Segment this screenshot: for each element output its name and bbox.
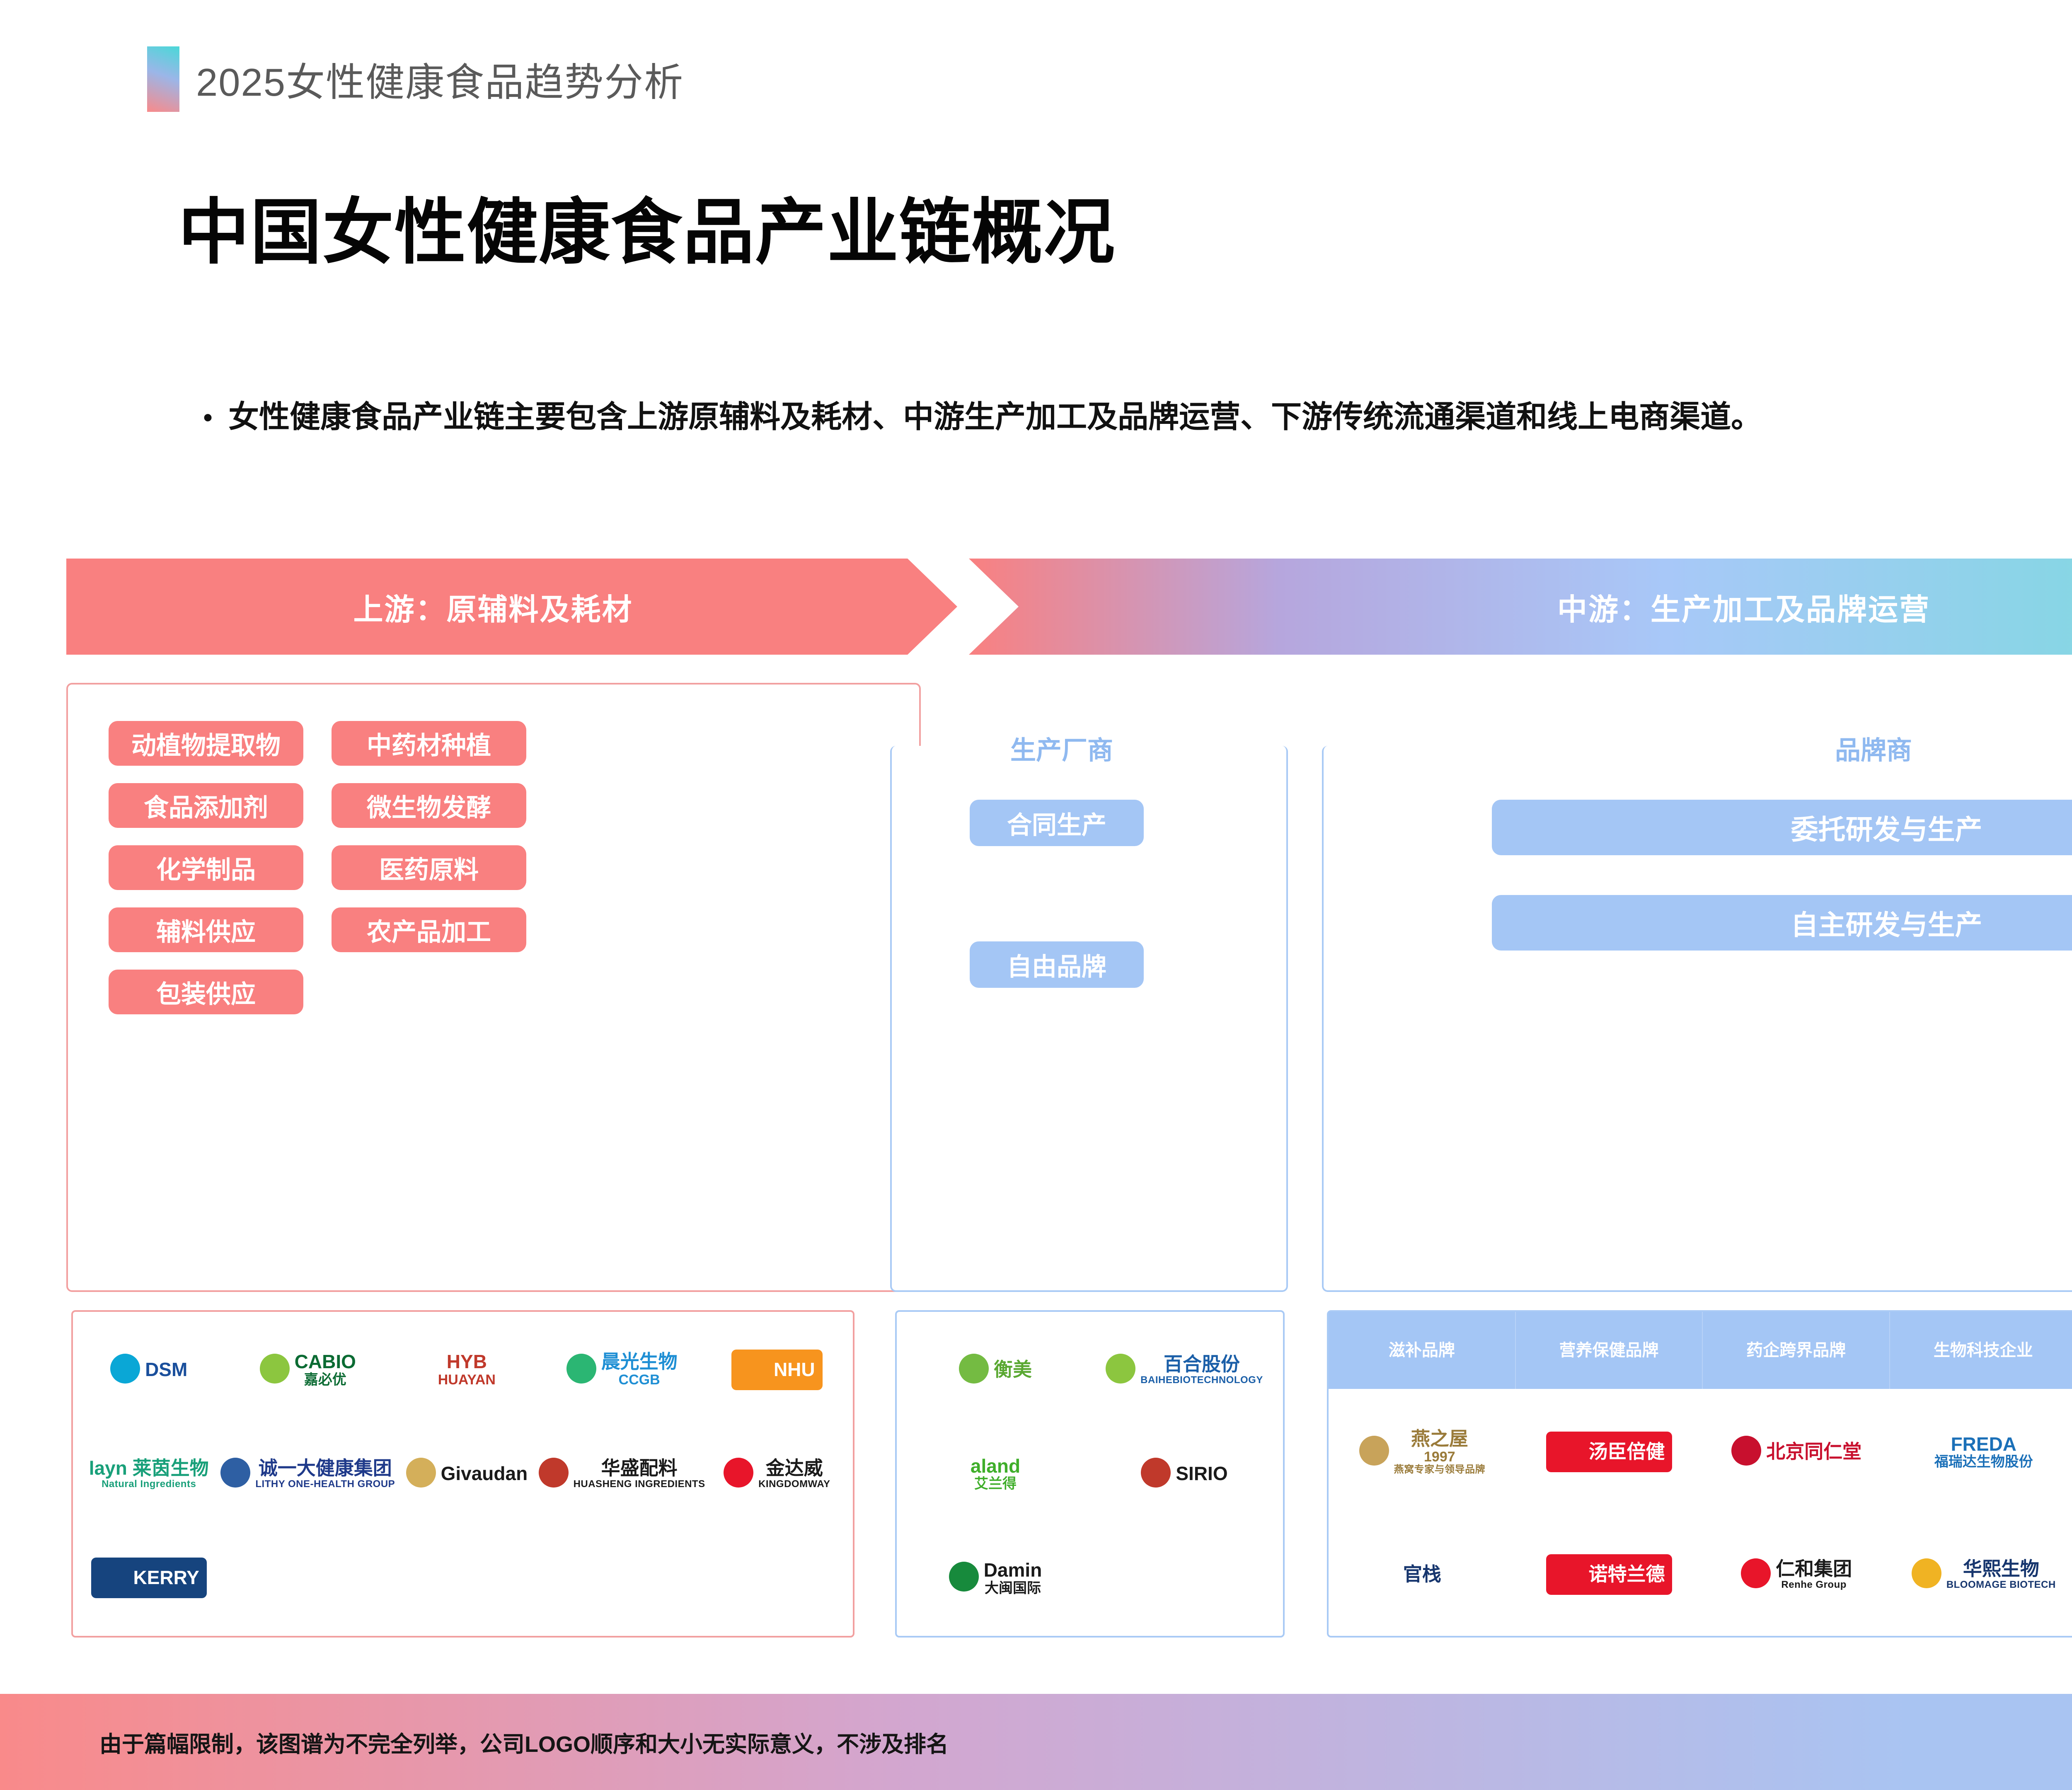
logo-text: HUASHENG INGREDIENTS: [574, 1479, 705, 1490]
brand-logo: 官栈: [1403, 1564, 1441, 1585]
logo-mark-icon: [1554, 1558, 1583, 1588]
logo-text: 福瑞达生物股份: [1934, 1454, 2033, 1470]
brand-logo: 汤臣倍健: [1546, 1432, 1672, 1472]
logo-mark-icon: [1359, 1436, 1389, 1466]
brand-category[interactable]: 滋补品牌: [1329, 1312, 1516, 1389]
upstream-logo: HYBHUAYAN: [438, 1352, 496, 1387]
brand-category[interactable]: 生物科技企业: [1890, 1312, 2072, 1389]
logo-text: 百合股份: [1164, 1354, 1240, 1375]
logo-text: 晨光生物: [601, 1352, 678, 1372]
logo-mark-icon: [1912, 1558, 1941, 1588]
stage-upstream[interactable]: 上游：原辅料及耗材: [66, 559, 957, 655]
page-title: 中国女性健康食品产业链概况: [178, 174, 1116, 278]
logo-mark-icon: [1141, 1458, 1171, 1488]
stage-midstream[interactable]: 中游：生产加工及品牌运营: [969, 559, 2072, 655]
upstream-logo-panel: DSMCABIO嘉必优HYBHUAYAN晨光生物CCGBNHUlayn 莱茵生物…: [71, 1310, 854, 1638]
logo-text: 诺特兰德: [1588, 1564, 1665, 1585]
brand-tag-list: 委托研发与生产 自主研发与生产: [1492, 800, 2072, 951]
logo-mark-icon: [110, 1354, 140, 1384]
logo-text: CCGB: [619, 1372, 660, 1388]
accent-bar-icon: [147, 46, 179, 112]
logo-text: CABIO: [295, 1352, 356, 1372]
logo-text: Natural Ingredients: [102, 1479, 196, 1490]
logo-text: 大闽国际: [985, 1581, 1041, 1596]
upstream-logo: 诚一大健康集团LITHY ONE-HEALTH GROUP: [220, 1458, 395, 1490]
logo-text: KINGDOMWAY: [758, 1479, 830, 1490]
footer-bar: 由于篇幅限制，该图谱为不完全列举，公司LOGO顺序和大小无实际意义，不涉及排名: [0, 1694, 2072, 1790]
upstream-tag[interactable]: 包装供应: [109, 970, 303, 1014]
brand-logo: FREDA福瑞达生物股份: [1934, 1434, 2033, 1470]
brand-logo: 华熙生物BLOOMAGE BIOTECH: [1912, 1558, 2056, 1591]
logo-text: HYB: [447, 1352, 487, 1372]
upstream-logo: 晨光生物CCGB: [566, 1352, 678, 1387]
logo-mark-icon: [1741, 1558, 1771, 1588]
brand-category-strip: 滋补品牌 营养保健品牌 药企跨界品牌 生物科技企业 日化美妆品牌 食品品牌: [1329, 1312, 2072, 1389]
logo-mark-icon: [1554, 1436, 1583, 1466]
logo-text: layn 莱茵生物: [89, 1458, 209, 1479]
logo-text: 嘉必优: [304, 1372, 346, 1388]
logo-text: DSM: [145, 1359, 187, 1380]
logo-text: Renhe Group: [1781, 1580, 1847, 1590]
brand-category[interactable]: 营养保健品牌: [1516, 1312, 1703, 1389]
upstream-tag[interactable]: 农产品加工: [332, 907, 526, 952]
logo-mark-icon: [1106, 1354, 1135, 1384]
logo-mark-icon: [949, 1562, 979, 1592]
logo-mark-icon: [260, 1354, 290, 1384]
upstream-tag[interactable]: 辅料供应: [109, 907, 303, 952]
manufacturer-logo: 百合股份BAIHEBIOTECHNOLOGY: [1106, 1354, 1263, 1386]
logo-mark-icon: [724, 1458, 753, 1488]
logo-mark-icon: [220, 1458, 250, 1488]
manufacturer-logo: SIRIO: [1141, 1458, 1227, 1490]
lead-paragraph: • 女性健康食品产业链主要包含上游原辅料及耗材、中游生产加工及品牌运营、下游传统…: [203, 398, 1762, 436]
bullet-icon: •: [203, 398, 213, 431]
logo-mark-icon: [99, 1562, 128, 1592]
logo-text: SIRIO: [1176, 1463, 1227, 1484]
upstream-logo: CABIO嘉必优: [260, 1352, 356, 1387]
logo-text: HUAYAN: [438, 1372, 496, 1388]
logo-text: 燕之屋: [1411, 1429, 1468, 1449]
upstream-logo: 金达威KINGDOMWAY: [724, 1458, 830, 1490]
logo-text: 金达威: [766, 1458, 823, 1479]
logo-text: aland: [971, 1456, 1020, 1477]
brand-logo: 燕之屋1997燕窝专家与领导品牌: [1359, 1429, 1486, 1475]
logo-text: 汤臣倍健: [1588, 1442, 1665, 1462]
logo-mark-icon: [739, 1354, 769, 1384]
manufacturer-logo: aland艾兰得: [971, 1456, 1020, 1492]
logo-text: 衡美: [994, 1359, 1032, 1380]
logo-text: 诚一大健康集团: [259, 1458, 392, 1479]
logo-text: KERRY: [133, 1567, 199, 1588]
logo-text: 燕窝专家与领导品牌: [1394, 1464, 1486, 1475]
logo-text: 北京同仁堂: [1766, 1442, 1861, 1462]
manufacturer-caption: 生产厂商: [999, 729, 1125, 767]
logo-mark-icon: [959, 1354, 989, 1384]
upstream-tag[interactable]: 化学制品: [109, 845, 303, 890]
upstream-logo: DSM: [110, 1354, 187, 1386]
kicker-label: 2025女性健康食品趋势分析: [196, 51, 684, 107]
upstream-logo: KERRY: [91, 1558, 207, 1598]
logo-text: 华熙生物: [1963, 1559, 2039, 1580]
stage-band: 上游：原辅料及耗材 中游：生产加工及品牌运营 下游：销售渠道: [66, 559, 2072, 655]
logo-text: 仁和集团: [1776, 1559, 1852, 1580]
brand-logo: 北京同仁堂: [1731, 1436, 1861, 1468]
upstream-tag[interactable]: 微生物发酵: [332, 783, 526, 828]
upstream-tag[interactable]: 中药材种植: [332, 721, 526, 766]
manufacturer-tag[interactable]: 自由品牌: [970, 941, 1144, 988]
logo-text: NHU: [774, 1359, 815, 1380]
logo-mark-icon: [539, 1458, 569, 1488]
logo-mark-icon: [1731, 1436, 1761, 1466]
kicker-row: 2025女性健康食品趋势分析: [147, 46, 684, 112]
brand-category[interactable]: 药企跨界品牌: [1703, 1312, 1890, 1389]
upstream-logo-grid: DSMCABIO嘉必优HYBHUAYAN晨光生物CCGBNHUlayn 莱茵生物…: [73, 1312, 853, 1636]
brand-logo: 仁和集团Renhe Group: [1741, 1558, 1852, 1591]
logo-text: 华盛配料: [601, 1458, 678, 1479]
logo-text: LITHY ONE-HEALTH GROUP: [255, 1479, 395, 1490]
logo-text: 官栈: [1403, 1564, 1441, 1585]
upstream-logo: layn 莱茵生物Natural Ingredients: [89, 1458, 209, 1490]
logo-text: Damin: [984, 1560, 1042, 1581]
upstream-logo: 华盛配料HUASHENG INGREDIENTS: [539, 1458, 705, 1490]
logo-mark-icon: [566, 1354, 596, 1384]
manufacturer-logo-grid: 衡美百合股份BAIHEBIOTECHNOLOGYaland艾兰得SIRIODam…: [897, 1312, 1283, 1636]
upstream-tag[interactable]: 医药原料: [332, 845, 526, 890]
logo-mark-icon: [406, 1458, 436, 1488]
manufacturer-tag-list: 合同生产 自由品牌: [970, 800, 1144, 988]
logo-text: BLOOMAGE BIOTECH: [1946, 1580, 2056, 1590]
upstream-tag[interactable]: 食品添加剂: [109, 783, 303, 828]
upstream-tag[interactable]: 动植物提取物: [109, 721, 303, 766]
manufacturer-logo: Damin大闽国际: [949, 1560, 1042, 1596]
lead-text: 女性健康食品产业链主要包含上游原辅料及耗材、中游生产加工及品牌运营、下游传统流通…: [228, 398, 1762, 436]
brand-logo-grid: 燕之屋1997燕窝专家与领导品牌汤臣倍健北京同仁堂FREDA福瑞达生物股份MAR…: [1329, 1391, 2072, 1636]
logo-text: Givaudan: [441, 1463, 528, 1484]
brand-caption: 品牌商: [1823, 729, 1924, 767]
footer-note: 由于篇幅限制，该图谱为不完全列举，公司LOGO顺序和大小无实际意义，不涉及排名: [99, 1726, 949, 1759]
upstream-logo: NHU: [731, 1350, 823, 1390]
upstream-tag-grid: 动植物提取物 中药材种植 食品添加剂 微生物发酵 化学制品 医药原料 辅料供应 …: [109, 721, 526, 1014]
upstream-logo: Givaudan: [406, 1458, 528, 1490]
manufacturer-logo: 衡美: [959, 1354, 1032, 1386]
logo-text: 1997: [1424, 1449, 1455, 1465]
logo-text: BAIHEBIOTECHNOLOGY: [1140, 1375, 1263, 1386]
manufacturer-tag[interactable]: 合同生产: [970, 800, 1144, 846]
logo-text: 艾兰得: [974, 1476, 1017, 1492]
logo-text: FREDA: [1951, 1434, 2016, 1455]
manufacturer-logo-panel: 衡美百合股份BAIHEBIOTECHNOLOGYaland艾兰得SIRIODam…: [895, 1310, 1285, 1638]
brand-tag[interactable]: 自主研发与生产: [1492, 895, 2072, 951]
brand-logo: 诺特兰德: [1546, 1554, 1672, 1595]
brand-tag[interactable]: 委托研发与生产: [1492, 800, 2072, 855]
